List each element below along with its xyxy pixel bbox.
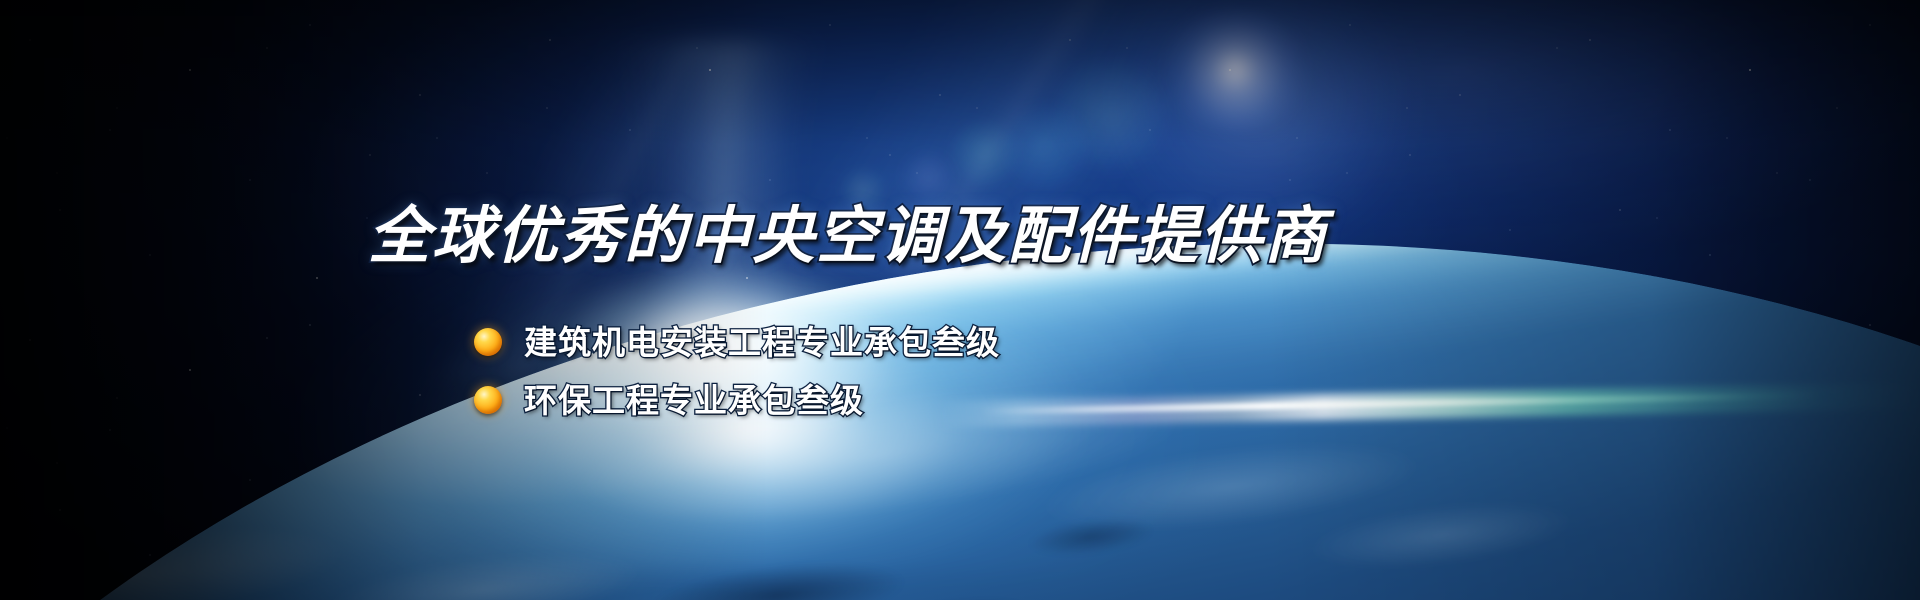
banner-bullet-item: 环保工程专业承包叁级 <box>474 374 1000 426</box>
orange-dot-bullet-icon <box>474 328 502 356</box>
orange-dot-bullet-icon <box>474 386 502 414</box>
banner-content: 全球优秀的中央空调及配件提供商 建筑机电安装工程专业承包叁级 环保工程专业承包叁… <box>0 0 1920 600</box>
banner-headline: 全球优秀的中央空调及配件提供商 <box>368 205 1328 267</box>
banner-bullet-label: 环保工程专业承包叁级 <box>524 384 864 417</box>
banner-bullet-item: 建筑机电安装工程专业承包叁级 <box>474 316 1000 368</box>
hero-banner: 全球优秀的中央空调及配件提供商 建筑机电安装工程专业承包叁级 环保工程专业承包叁… <box>0 0 1920 600</box>
banner-bullet-list: 建筑机电安装工程专业承包叁级 环保工程专业承包叁级 <box>474 316 1000 432</box>
banner-bullet-label: 建筑机电安装工程专业承包叁级 <box>524 326 1000 359</box>
